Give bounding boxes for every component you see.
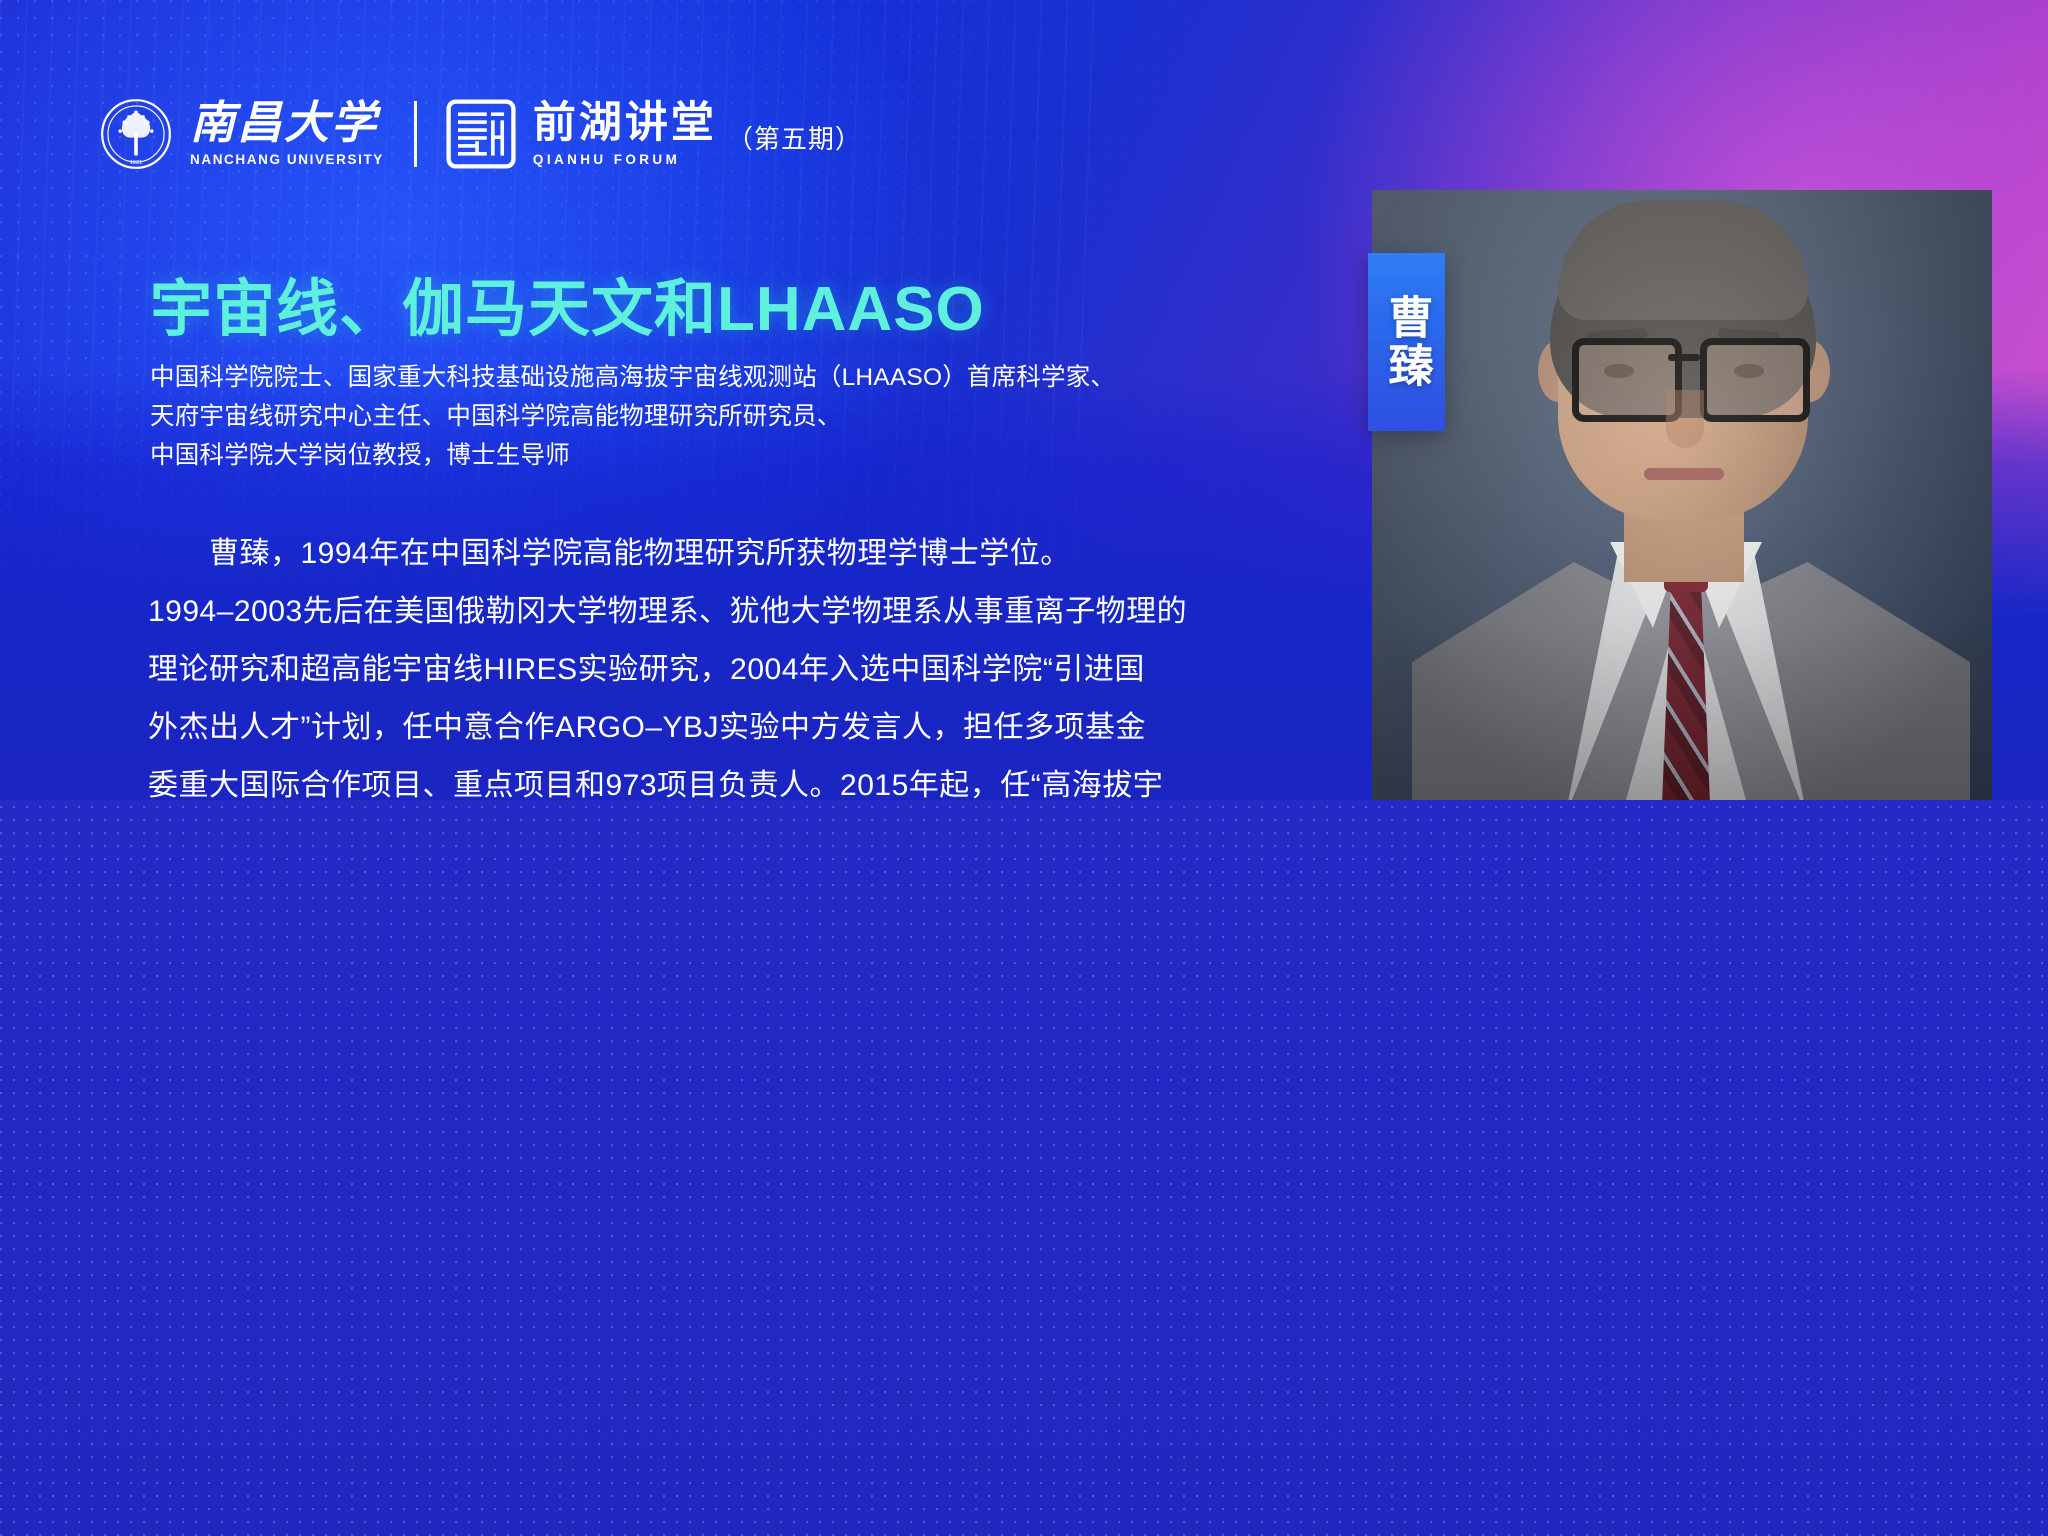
bio-line: 曹臻，1994年在中国科学院高能物理研究所获物理学博士学位。 bbox=[148, 525, 1308, 583]
slide-frame: 1921 南昌大学 NANCHANG UNIVERSITY bbox=[0, 0, 2048, 800]
bio-line: 1994–2003先后在美国俄勒冈大学物理系、犹他大学物理系从事重离子物理的 bbox=[148, 583, 1308, 641]
bio-line: 委重大国际合作项目、重点项目和973项目负责人。2015年起，任“高海拔宇 bbox=[148, 757, 1308, 800]
speaker-portrait bbox=[1372, 190, 1992, 800]
speaker-credentials: 中国科学院院士、国家重大科技基础设施高海拔宇宙线观测站（LHAASO）首席科学家… bbox=[150, 358, 1310, 475]
qianhu-seal-icon bbox=[445, 98, 517, 170]
crest-year: 1921 bbox=[130, 160, 143, 166]
speaker-name-banner: 曹臻 bbox=[1368, 253, 1445, 431]
screen: 1921 南昌大学 NANCHANG UNIVERSITY bbox=[0, 0, 2048, 1536]
credential-line: 中国科学院大学岗位教授，博士生导师 bbox=[150, 436, 1310, 475]
forum-name-block: 前湖讲堂 QIANHU FORUM bbox=[533, 101, 717, 166]
forum-issue-label: （第五期） bbox=[727, 113, 862, 156]
header-divider bbox=[414, 101, 417, 167]
forum-name-cn: 前湖讲堂 bbox=[533, 101, 717, 146]
bio-line: 理论研究和超高能宇宙线HIRES实验研究，2004年入选中国科学院“引进国 bbox=[148, 641, 1308, 699]
slide-title: 宇宙线、伽马天文和LHAASO bbox=[150, 258, 985, 348]
university-crest-icon: 1921 bbox=[100, 98, 172, 170]
speaker-name: 曹臻 bbox=[1384, 294, 1430, 390]
bio-line: 外杰出人才”计划，任中意合作ARGO–YBJ实验中方发言人，担任多项基金 bbox=[148, 699, 1308, 757]
university-name-block: 南昌大学 NANCHANG UNIVERSITY bbox=[190, 101, 384, 167]
university-name-en: NANCHANG UNIVERSITY bbox=[190, 152, 384, 167]
portrait-vignette bbox=[1372, 190, 1992, 800]
speaker-biography: 曹臻，1994年在中国科学院高能物理研究所获物理学博士学位。 1994–2003… bbox=[148, 525, 1308, 800]
forum-name-en: QIANHU FORUM bbox=[533, 152, 717, 167]
university-name-cn: 南昌大学 bbox=[190, 101, 384, 147]
credential-line: 天府宇宙线研究中心主任、中国科学院高能物理研究所研究员、 bbox=[150, 397, 1310, 436]
credential-line: 中国科学院院士、国家重大科技基础设施高海拔宇宙线观测站（LHAASO）首席科学家… bbox=[150, 358, 1310, 397]
header-lockup: 1921 南昌大学 NANCHANG UNIVERSITY bbox=[100, 98, 862, 170]
